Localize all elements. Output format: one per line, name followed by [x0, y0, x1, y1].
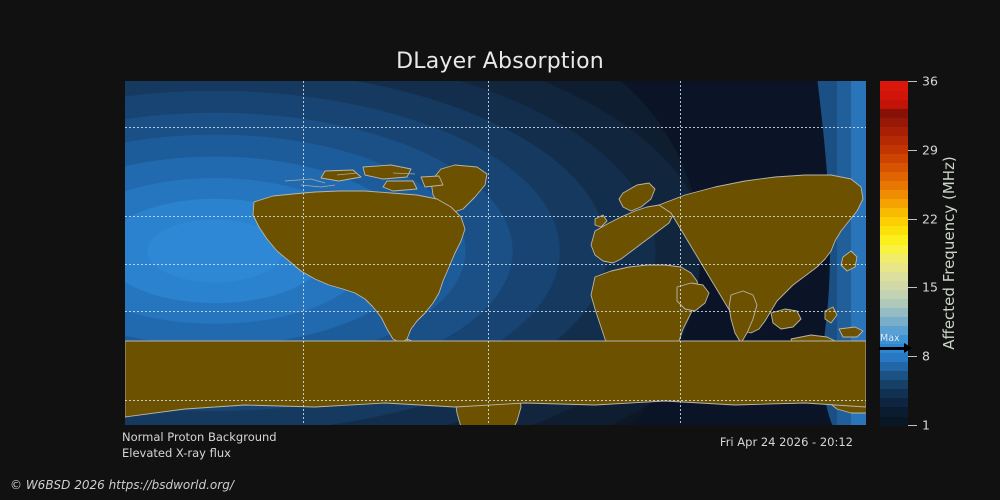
colorbar-segment	[880, 99, 908, 109]
colorbar-tick	[908, 219, 917, 220]
colorbar-segment	[880, 371, 908, 381]
colorbar-segment	[880, 172, 908, 182]
colorbar-tick	[908, 81, 917, 82]
colorbar-segment	[880, 226, 908, 236]
max-marker-arrow-head	[904, 343, 912, 353]
colorbar-segment	[880, 253, 908, 263]
colorbar[interactable]: 1815222936 Max	[880, 81, 908, 425]
colorbar-tick-label: 1	[922, 418, 930, 433]
colorbar-segment	[880, 108, 908, 118]
colorbar-segment	[880, 362, 908, 372]
colorbar-segment	[880, 135, 908, 145]
colorbar-tick-label: 22	[922, 212, 938, 227]
colorbar-segment	[880, 407, 908, 417]
colorbar-segment	[880, 235, 908, 245]
colorbar-axis-title: Affected Frequency (MHz)	[938, 81, 960, 425]
colorbar-segment	[880, 244, 908, 254]
colorbar-tick	[908, 425, 917, 426]
colorbar-tick-label: 15	[922, 280, 938, 295]
colorbar-segment	[880, 181, 908, 191]
colorbar-segment	[880, 126, 908, 136]
colorbar-segment	[880, 416, 908, 426]
colorbar-segment	[880, 199, 908, 209]
colorbar-tick	[908, 150, 917, 151]
credit-line: © W6BSD 2026 https://bsdworld.org/	[10, 478, 234, 492]
colorbar-segment	[880, 398, 908, 408]
max-marker: Max	[878, 335, 912, 357]
max-marker-label: Max	[880, 334, 900, 344]
page-title: DLayer Absorption	[0, 49, 1000, 74]
map-canvas	[125, 81, 866, 425]
dlayer-absorption-app: DLayer Absorption	[0, 0, 1000, 500]
colorbar-gradient	[880, 81, 908, 425]
colorbar-segment	[880, 389, 908, 399]
colorbar-segment	[880, 307, 908, 317]
colorbar-segment	[880, 190, 908, 200]
colorbar-tick-label: 29	[922, 143, 938, 158]
colorbar-segment	[880, 380, 908, 390]
colorbar-segment	[880, 117, 908, 127]
max-marker-arrow-shaft	[879, 347, 907, 350]
colorbar-tick-label: 8	[922, 349, 930, 364]
colorbar-segment	[880, 271, 908, 281]
colorbar-segment	[880, 144, 908, 154]
colorbar-segment	[880, 162, 908, 172]
colorbar-segment	[880, 280, 908, 290]
colorbar-segment	[880, 81, 908, 91]
colorbar-segment	[880, 90, 908, 100]
colorbar-segment	[880, 289, 908, 299]
colorbar-segment	[880, 298, 908, 308]
colorbar-segment	[880, 153, 908, 163]
colorbar-segment	[880, 316, 908, 326]
annotation-xray-flux: Elevated X-ray flux	[122, 446, 231, 460]
colorbar-segment	[880, 262, 908, 272]
annotation-proton-background: Normal Proton Background	[122, 430, 277, 444]
colorbar-segment	[880, 208, 908, 218]
colorbar-tick	[908, 287, 917, 288]
colorbar-tick-label: 36	[922, 74, 938, 89]
colorbar-axis-title-text: Affected Frequency (MHz)	[940, 156, 958, 350]
colorbar-segment	[880, 217, 908, 227]
timestamp: Fri Apr 24 2026 - 20:12	[720, 435, 853, 449]
world-absorption-map[interactable]	[125, 81, 866, 425]
